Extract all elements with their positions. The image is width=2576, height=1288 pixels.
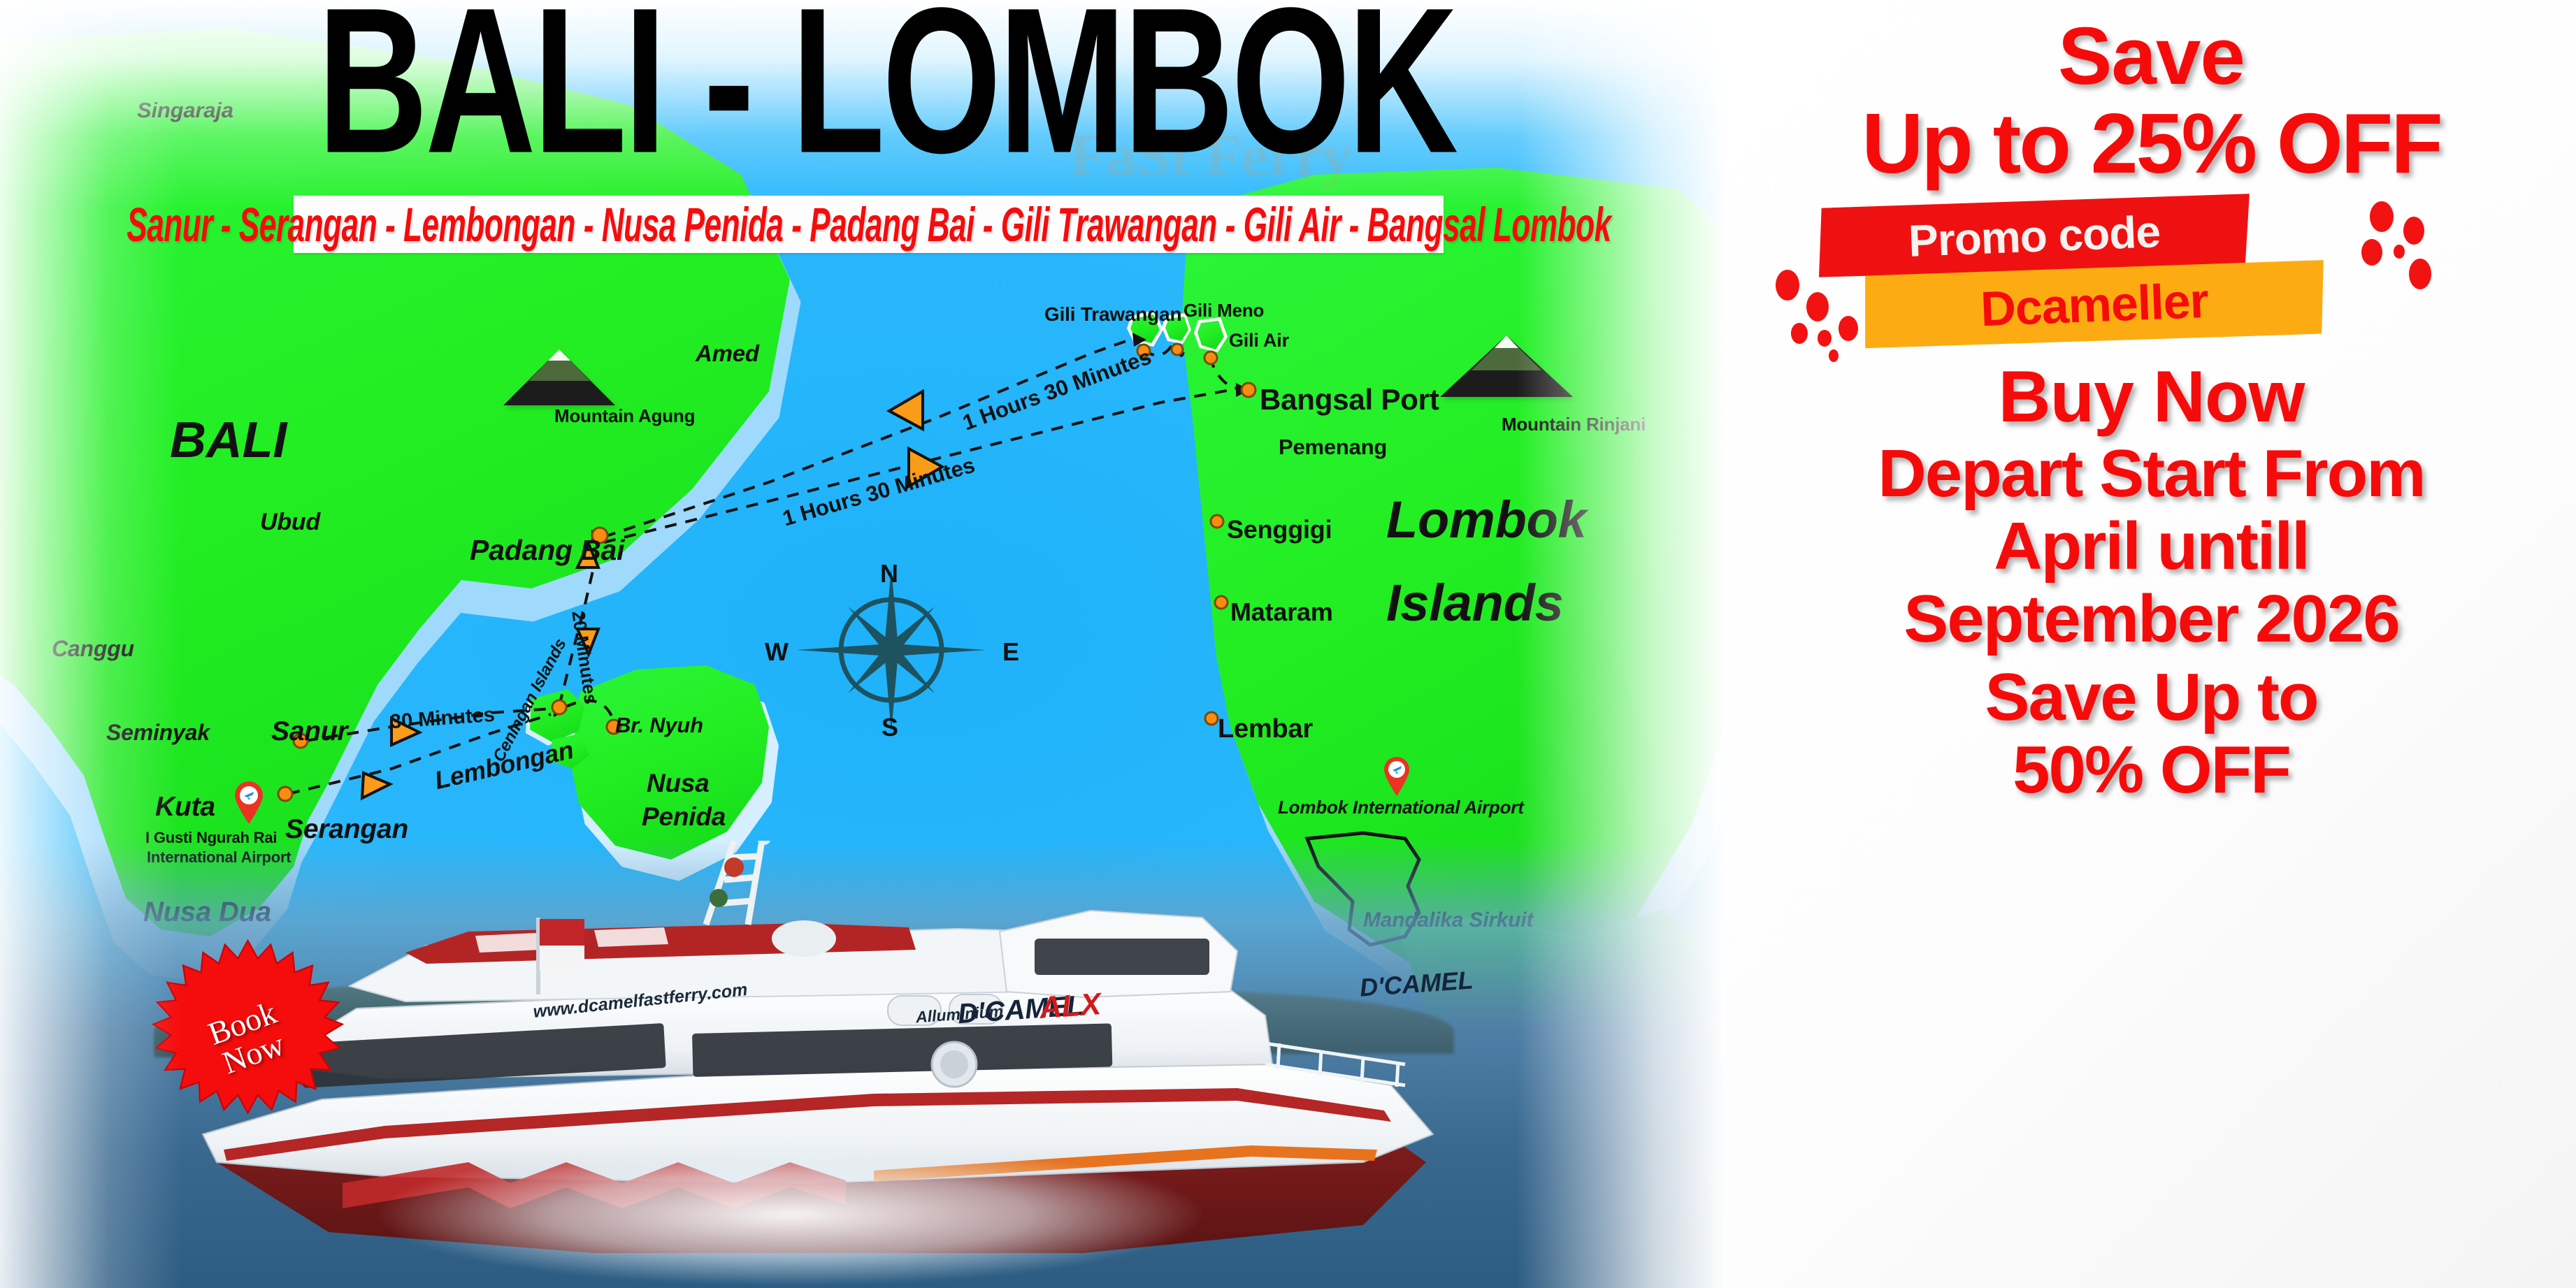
port-serangan bbox=[278, 787, 292, 801]
port-mataram bbox=[1215, 596, 1228, 609]
port-lembongan bbox=[552, 700, 566, 714]
place-label-ubud: Ubud bbox=[260, 509, 320, 536]
promo-discount-25: Up to 25% OFF bbox=[1862, 101, 2441, 186]
port-senggigi bbox=[1211, 515, 1223, 528]
place-label-pemenang: Pemenang bbox=[1279, 435, 1387, 460]
place-label-lombok-airport: Lombok International Airport bbox=[1278, 797, 1524, 818]
dot-cluster-right bbox=[2356, 201, 2454, 306]
island-label-nusa: Nusa bbox=[647, 769, 710, 798]
promo-depart-from: Depart Start From bbox=[1878, 440, 2424, 507]
place-label-mataram: Mataram bbox=[1230, 598, 1333, 627]
promo-code-label-text: Promo code bbox=[1908, 205, 2161, 267]
left-white-fade bbox=[0, 0, 182, 1288]
island-label-penida: Penida bbox=[642, 802, 726, 832]
route-subtitle-bar: Sanur - Serangan - Lembongan - Nusa Peni… bbox=[294, 196, 1444, 253]
port-bangsal bbox=[1242, 383, 1255, 397]
promo-end-month: September 2026 bbox=[1904, 586, 2398, 653]
right-white-fade bbox=[1517, 0, 1727, 1288]
banner-title-text: BALI - LOMBOK bbox=[317, 0, 1455, 173]
place-label-br-nyuh: Br. Nyuh bbox=[615, 713, 703, 738]
promo-save-heading: Save bbox=[2058, 15, 2245, 96]
ferry-hull-brand-red: ALX bbox=[1038, 987, 1102, 1026]
place-label-amed: Amed bbox=[696, 340, 759, 367]
banner-title: BALI - LOMBOK bbox=[271, 13, 1502, 173]
compass-label-s: S bbox=[882, 713, 898, 742]
promo-code-value-text: Dcameller bbox=[1980, 273, 2209, 337]
promo-save-up-to: Save Up to bbox=[1985, 664, 2317, 731]
promo-start-month: April untill bbox=[1994, 513, 2309, 580]
port-lembar bbox=[1205, 712, 1218, 725]
promo-banner: N E S W BALI Lombok Islands Nusa Penida … bbox=[0, 0, 2576, 1288]
promo-panel: Save Up to 25% OFF Promo code Dcameller bbox=[1727, 0, 2576, 1288]
place-label-padang-bai: Padang Bai bbox=[470, 534, 624, 567]
airport-pin-lombok bbox=[1383, 756, 1411, 797]
island-label-bali: BALI bbox=[170, 412, 287, 469]
place-label-sanur: Sanur bbox=[271, 716, 348, 747]
port-gili-air bbox=[1204, 352, 1217, 364]
route-subtitle-text: Sanur - Serangan - Lembongan - Nusa Peni… bbox=[127, 196, 1611, 253]
compass-label-w: W bbox=[765, 637, 789, 667]
place-label-senggigi: Senggigi bbox=[1227, 515, 1332, 544]
compass-rose bbox=[797, 567, 986, 732]
promo-code-badges: Promo code Dcameller bbox=[1727, 189, 2576, 349]
dot-cluster-left bbox=[1776, 264, 1880, 355]
place-label-gili-trawangan: Gili Trawangan bbox=[1044, 303, 1181, 326]
place-label-mountain-agung: Mountain Agung bbox=[554, 405, 695, 427]
place-label-lembar: Lembar bbox=[1218, 714, 1313, 744]
compass-label-e: E bbox=[1002, 637, 1019, 667]
port-gili-meno bbox=[1172, 344, 1183, 355]
place-label-gili-air: Gili Air bbox=[1229, 330, 1289, 352]
boat-wake bbox=[266, 1141, 1314, 1288]
promo-discount-50: 50% OFF bbox=[2013, 737, 2290, 804]
place-label-bangsal-port: Bangsal Port bbox=[1260, 383, 1439, 417]
promo-buy-now[interactable]: Buy Now bbox=[1999, 361, 2305, 433]
arrow-gili-route bbox=[889, 391, 923, 429]
compass-label-n: N bbox=[880, 559, 898, 588]
place-label-gili-meno: Gili Meno bbox=[1183, 300, 1264, 321]
arrow-serangan bbox=[362, 773, 390, 798]
airport-pin-ngurah-rai bbox=[233, 781, 264, 825]
